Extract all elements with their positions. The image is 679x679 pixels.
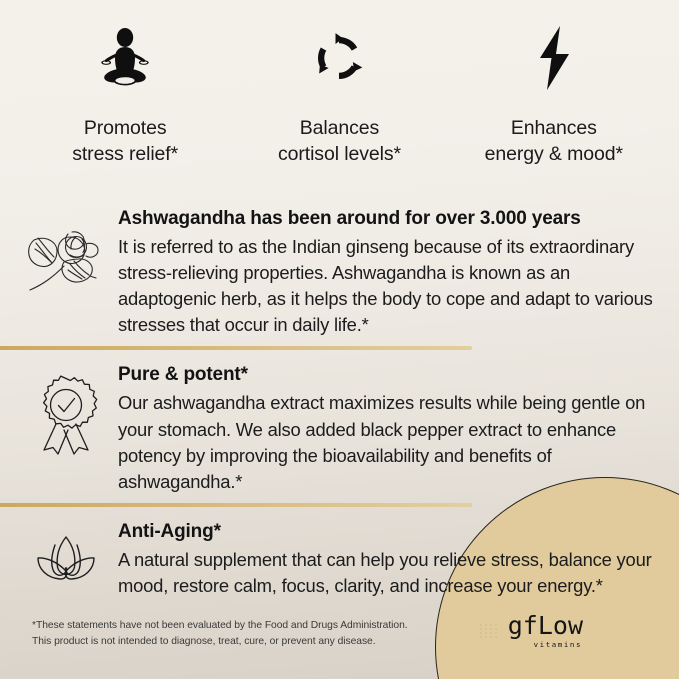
disclaimer-text: *These statements have not been evaluate… (32, 618, 408, 651)
feature-title: Anti-Aging* (118, 519, 655, 546)
ashwagandha-plant-icon (14, 206, 118, 298)
feature-text: It is referred to as the Indian ginseng … (118, 234, 655, 339)
benefit-label: Balances cortisol levels* (278, 116, 401, 168)
meditation-icon (94, 22, 156, 94)
brand-tagline: vitamins (534, 640, 582, 649)
feature-row-pure-potent: Pure & potent* Our ashwagandha extract m… (0, 350, 679, 502)
feature-row-anti-aging: Anti-Aging* A natural supplement that ca… (0, 507, 679, 603)
award-rosette-icon (14, 362, 118, 458)
feature-text: Our ashwagandha extract maximizes result… (118, 390, 655, 495)
footer: *These statements have not been evaluate… (0, 613, 679, 679)
features-list: Ashwagandha has been around for over 3.0… (0, 196, 679, 603)
disclaimer-line-1: *These statements have not been evaluate… (32, 618, 408, 635)
benefit-item: Balances cortisol levels* (232, 22, 446, 196)
feature-row-ashwagandha-history: Ashwagandha has been around for over 3.0… (0, 196, 679, 346)
brand-logo: gfLow vitamins (479, 613, 583, 649)
brand-name: gfLow (508, 613, 583, 638)
benefit-label: Promotes stress relief* (72, 116, 178, 168)
lotus-flower-icon (14, 519, 118, 591)
feature-title: Pure & potent* (118, 362, 655, 389)
benefit-item: Enhances energy & mood* (447, 22, 661, 196)
dotted-pattern-icon (479, 623, 499, 639)
feature-title: Ashwagandha has been around for over 3.0… (118, 206, 655, 233)
benefit-label: Enhances energy & mood* (485, 116, 623, 168)
brand-mark: gfLow vitamins (508, 613, 583, 649)
feature-text: A natural supplement that can help you r… (118, 547, 655, 599)
benefits-strip: Promotes stress relief* (0, 0, 679, 196)
benefit-item: Promotes stress relief* (18, 22, 232, 196)
cycle-arrows-icon (311, 22, 367, 94)
disclaimer-line-2: This product is not intended to diagnose… (32, 634, 408, 651)
product-infographic: Promotes stress relief* (0, 0, 679, 679)
lightning-bolt-icon (534, 22, 574, 94)
